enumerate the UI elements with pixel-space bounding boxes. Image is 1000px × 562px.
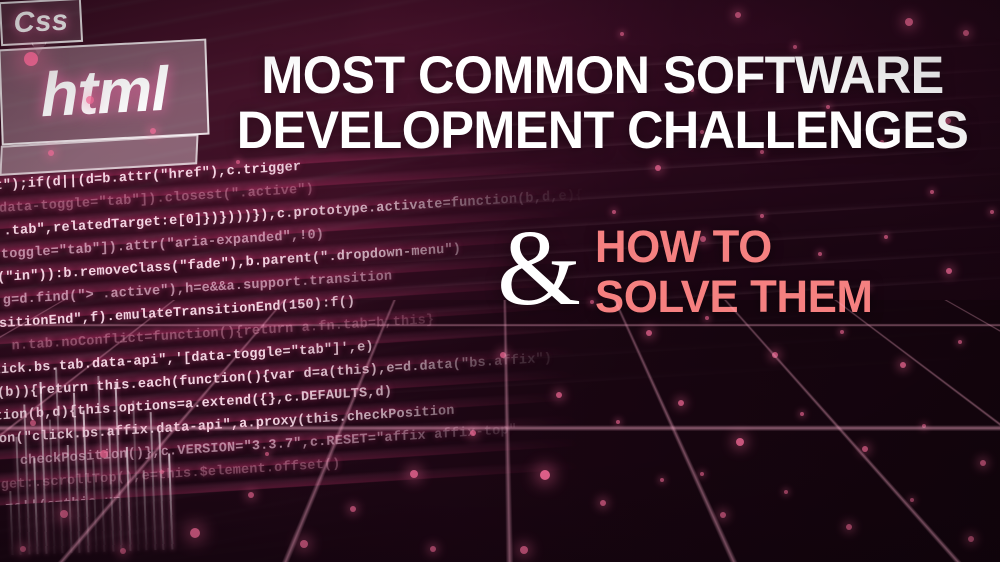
bokeh-dot bbox=[884, 235, 888, 239]
bokeh-dot bbox=[760, 214, 764, 218]
bokeh-dot bbox=[190, 528, 200, 538]
subtitle-line-2: SOLVE THEM bbox=[595, 272, 873, 322]
subtitle-block: & HOW TO SOLVE THEM bbox=[497, 222, 881, 322]
headline-line-2: DEVELOPMENT CHALLENGES bbox=[234, 103, 970, 158]
bokeh-dot bbox=[980, 460, 986, 466]
bokeh-dot bbox=[660, 478, 664, 482]
bokeh-dot bbox=[600, 500, 606, 506]
bokeh-dot bbox=[862, 446, 868, 452]
bokeh-dot bbox=[430, 546, 436, 552]
bokeh-dot bbox=[905, 18, 913, 26]
css-callout-label: Css bbox=[1, 0, 81, 44]
bokeh-dot bbox=[520, 546, 528, 554]
bokeh-dot bbox=[646, 330, 652, 336]
bokeh-dot bbox=[846, 524, 852, 530]
shirt-sleeve-front bbox=[166, 298, 256, 464]
html-callout-box: html bbox=[0, 39, 210, 146]
bokeh-dot bbox=[990, 210, 994, 214]
bokeh-dot bbox=[700, 472, 704, 476]
bokeh-dot bbox=[772, 352, 778, 358]
subtitle-line-1: HOW TO bbox=[595, 221, 772, 272]
headline-line-1: MOST COMMON SOFTWARE bbox=[261, 46, 943, 105]
subtitle: HOW TO SOLVE THEM bbox=[595, 222, 873, 322]
rear-shoe bbox=[85, 468, 139, 496]
banner-graphic: a("target");if(d||(d=b.attr("href"),c.tr… bbox=[0, 0, 1000, 562]
bokeh-dot bbox=[784, 490, 788, 494]
bokeh-dot bbox=[922, 424, 926, 428]
bokeh-dot bbox=[556, 392, 562, 398]
bokeh-dot bbox=[720, 512, 726, 518]
bokeh-dot bbox=[500, 352, 506, 358]
html-callout-label: html bbox=[1, 41, 208, 144]
bokeh-dot bbox=[410, 470, 418, 478]
bokeh-dot bbox=[910, 498, 914, 502]
bokeh-dot bbox=[20, 546, 26, 552]
bokeh-dot bbox=[620, 32, 624, 36]
bokeh-dot bbox=[958, 340, 962, 344]
bokeh-dot bbox=[840, 330, 844, 334]
bokeh-dot bbox=[236, 160, 240, 164]
ampersand-glyph: & bbox=[497, 221, 581, 317]
bokeh-dot bbox=[736, 438, 744, 446]
bokeh-dot bbox=[540, 470, 550, 480]
bokeh-dot bbox=[612, 210, 616, 214]
bokeh-dot bbox=[300, 540, 308, 548]
bokeh-dot bbox=[655, 165, 661, 171]
hair-bun bbox=[219, 170, 253, 198]
bokeh-dot bbox=[900, 362, 906, 368]
bokeh-dot bbox=[735, 12, 741, 18]
left-hand bbox=[132, 484, 174, 514]
bokeh-dot bbox=[350, 506, 356, 512]
right-hand bbox=[218, 458, 267, 489]
headline: MOST COMMON SOFTWARE DEVELOPMENT CHALLEN… bbox=[234, 48, 970, 158]
bokeh-dot bbox=[800, 412, 804, 416]
bokeh-dot bbox=[120, 548, 126, 554]
sprinter-silhouette bbox=[0, 170, 330, 520]
bokeh-dot bbox=[930, 190, 934, 194]
bokeh-dot bbox=[963, 30, 969, 36]
bokeh-dot bbox=[678, 400, 684, 406]
bokeh-dot bbox=[470, 430, 476, 436]
bokeh-dot bbox=[616, 420, 620, 424]
bokeh-dot bbox=[968, 536, 974, 542]
bokeh-dot bbox=[946, 268, 952, 274]
css-callout-bubble: Css bbox=[0, 0, 83, 46]
sprinter-woman-photo bbox=[0, 170, 330, 520]
